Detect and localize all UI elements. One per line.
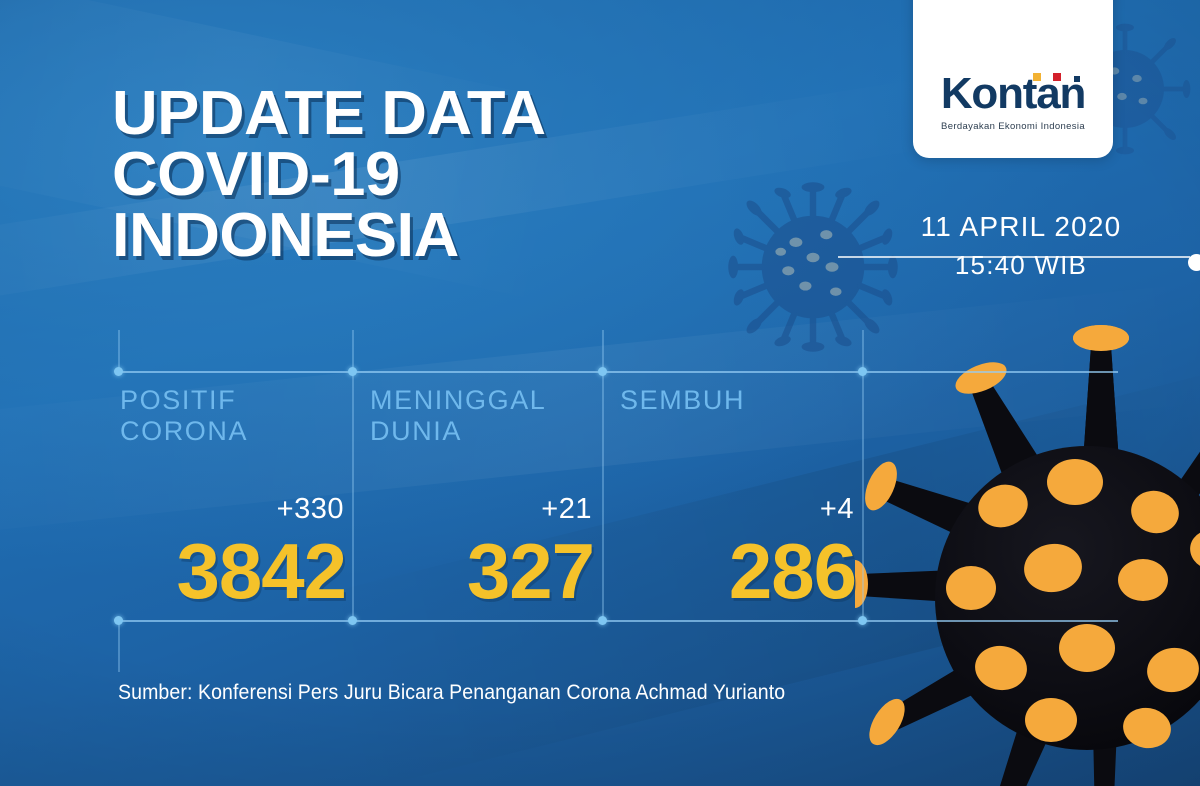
stat-delta: +21 [370,495,596,524]
stat-card-meninggal-dunia: MENINGGAL DUNIA +21 327 [370,385,596,447]
stat-values: +4 286 [620,495,858,610]
stat-values: +330 3842 [120,495,348,610]
title-line-2: COVID-19 [112,145,546,206]
stat-value: 3842 [120,532,348,610]
logo-wordmark-text: Kontan [941,69,1085,118]
stat-label-line-2: DUNIA [370,416,596,447]
stats-node-icon [858,616,867,625]
stat-value: 327 [370,532,596,610]
stats-top-rule [118,371,1118,373]
logo-red-square-icon [1053,73,1061,81]
logo-yellow-square-icon [1033,73,1041,81]
stat-label: POSITIF CORONA [120,385,348,447]
timestamp-block: 11 APRIL 2020 15:40 WIB [860,212,1200,279]
logo-navy-dot-icon [1074,76,1080,82]
stat-value: 286 [620,532,858,610]
stat-label-line-1: POSITIF [120,385,348,416]
stats-bottom-rule [118,620,1118,622]
stats-node-icon [348,367,357,376]
stat-card-sembuh: SEMBUH +4 286 [620,385,858,416]
stats-node-icon [114,367,123,376]
stat-label: MENINGGAL DUNIA [370,385,596,447]
title-line-3: INDONESIA [112,206,546,267]
page-title: UPDATE DATA COVID-19 INDONESIA [112,84,546,266]
timestamp-divider-dot-icon [1188,254,1200,271]
stat-card-positif-corona: POSITIF CORONA +330 3842 [120,385,348,447]
source-note: Sumber: Konferensi Pers Juru Bicara Pena… [118,681,785,705]
covid-update-infographic: Kontan Berdayakan Ekonomi Indonesia UPDA… [0,0,1200,786]
logo-wordmark: Kontan [941,72,1085,116]
kontan-logo: Kontan Berdayakan Ekonomi Indonesia [913,0,1113,158]
stat-label-line-1: SEMBUH [620,385,858,416]
date-text: 11 APRIL 2020 [860,212,1200,243]
stat-values: +21 327 [370,495,596,610]
stats-node-icon [114,616,123,625]
stats-node-icon [598,616,607,625]
stats-grid-line [118,620,120,672]
title-line-1: UPDATE DATA [112,84,546,145]
stat-delta: +4 [620,495,858,524]
stats-node-icon [348,616,357,625]
stat-label-line-1: MENINGGAL [370,385,596,416]
stat-label: SEMBUH [620,385,858,416]
timestamp-divider [838,256,1190,258]
stat-label-line-2: CORONA [120,416,348,447]
stat-delta: +330 [120,495,348,524]
stats-node-icon [858,367,867,376]
stats-node-icon [598,367,607,376]
logo-tagline: Berdayakan Ekonomi Indonesia [941,121,1085,132]
